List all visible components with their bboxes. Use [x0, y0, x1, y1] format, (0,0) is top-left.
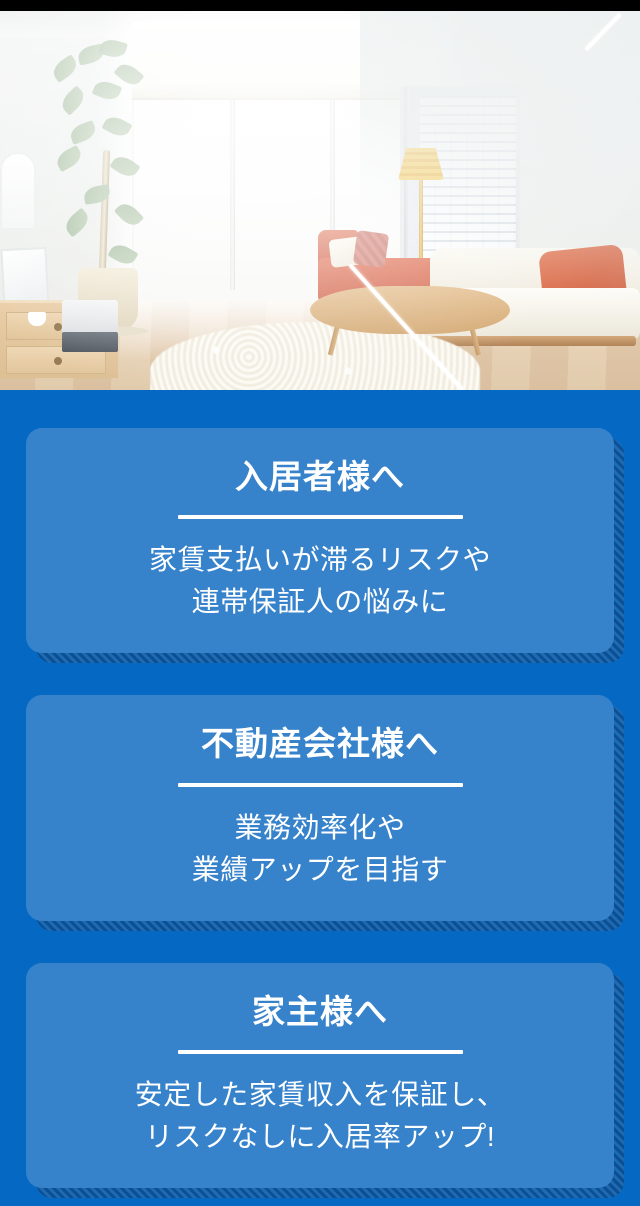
small-side-window: [0, 152, 36, 230]
card-body-line: 業務効率化や: [46, 807, 594, 849]
hero-room-photo: [0, 0, 640, 390]
landing-page: 家賃保証 「安心」の 入居者様へ 家賃支払いが滞るリスクや 連帯保証人の悩みに …: [0, 0, 640, 1206]
card-tenant[interactable]: 入居者様へ 家賃支払いが滞るリスクや 連帯保証人の悩みに: [26, 428, 614, 653]
card-body: 業務効率化や 業績アップを目指す: [46, 807, 594, 891]
card-body: 安定した家賃収入を保証し、 リスクなしに入居率アップ!: [46, 1074, 594, 1158]
sheer-curtain: [132, 22, 432, 100]
oval-coffee-table: [310, 286, 510, 334]
card-body-line: 安定した家賃収入を保証し、: [46, 1074, 594, 1116]
card-wrapper-agency: 不動産会社様へ 業務効率化や 業績アップを目指す: [26, 695, 614, 920]
card-divider: [178, 1050, 463, 1054]
card-body: 家賃支払いが滞るリスクや 連帯保証人の悩みに: [46, 539, 594, 623]
card-divider: [178, 783, 463, 787]
window-mullion-left: [230, 100, 235, 290]
card-body-line: 家賃支払いが滞るリスクや: [46, 539, 594, 581]
card-title: 家主様へ: [46, 991, 594, 1032]
hero-section: 家賃保証 「安心」の: [0, 0, 640, 390]
printer-base: [62, 332, 118, 352]
card-landlord[interactable]: 家主様へ 安定した家賃収入を保証し、 リスクなしに入居率アップ!: [26, 963, 614, 1188]
card-body-line: リスクなしに入居率アップ!: [46, 1116, 594, 1158]
drawer-knob: [54, 323, 62, 331]
card-wrapper-landlord: 家主様へ 安定した家賃収入を保証し、 リスクなしに入居率アップ!: [26, 963, 614, 1188]
card-real-estate-agency[interactable]: 不動産会社様へ 業務効率化や 業績アップを目指す: [26, 695, 614, 920]
sofa-wood-rail: [430, 336, 636, 346]
audience-cards-section: 入居者様へ 家賃支払いが滞るリスクや 連帯保証人の悩みに 不動産会社様へ 業務効…: [0, 390, 640, 1188]
card-divider: [178, 515, 463, 519]
card-body-line: 業績アップを目指す: [46, 849, 594, 891]
card-title: 不動産会社様へ: [46, 723, 594, 764]
coffee-cup: [28, 312, 46, 326]
card-wrapper-tenant: 入居者様へ 家賃支払いが滞るリスクや 連帯保証人の悩みに: [26, 428, 614, 653]
drawer-knob: [54, 357, 62, 365]
patterned-cushion: [353, 230, 389, 268]
card-title: 入居者様へ: [46, 456, 594, 497]
top-black-bar: [0, 0, 640, 11]
card-body-line: 連帯保証人の悩みに: [46, 581, 594, 623]
